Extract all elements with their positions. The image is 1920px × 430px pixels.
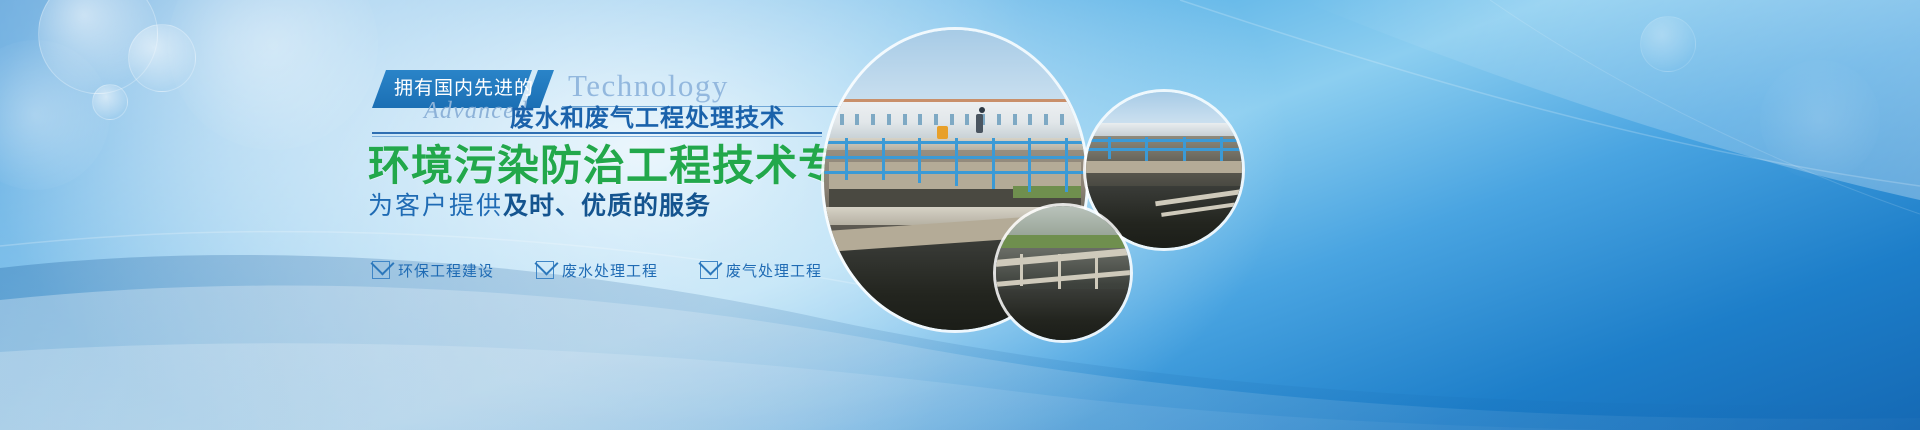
check-icon [536, 261, 554, 279]
feature-label: 废水处理工程 [562, 260, 658, 281]
bokeh-circle [1640, 16, 1696, 72]
check-icon [700, 261, 718, 279]
sub-headline: 为客户提供及时、优质的服务 [368, 186, 711, 216]
bokeh-circle [1760, 60, 1880, 180]
photo-wastewater-treatment-plant-tertiary [996, 206, 1130, 340]
sub-headline-normal: 为客户提供 [368, 192, 503, 220]
list-item: 环保工程建设 [372, 260, 494, 281]
banner-copy: 拥有国内先进的 Technology Advanced 废水和废气工程处理技术 … [0, 0, 880, 430]
feature-list: 环保工程建设 废水处理工程 废气处理工程 [372, 258, 822, 282]
photo-cluster [800, 0, 1360, 430]
list-item: 废水处理工程 [536, 260, 658, 281]
feature-label: 环保工程建设 [398, 260, 494, 281]
subtitle-text: 废水和废气工程处理技术 [510, 98, 785, 133]
check-icon [372, 261, 390, 279]
sub-headline-strong: 及时、优质的服务 [503, 192, 711, 220]
promo-banner: 拥有国内先进的 Technology Advanced 废水和废气工程处理技术 … [0, 0, 1920, 430]
